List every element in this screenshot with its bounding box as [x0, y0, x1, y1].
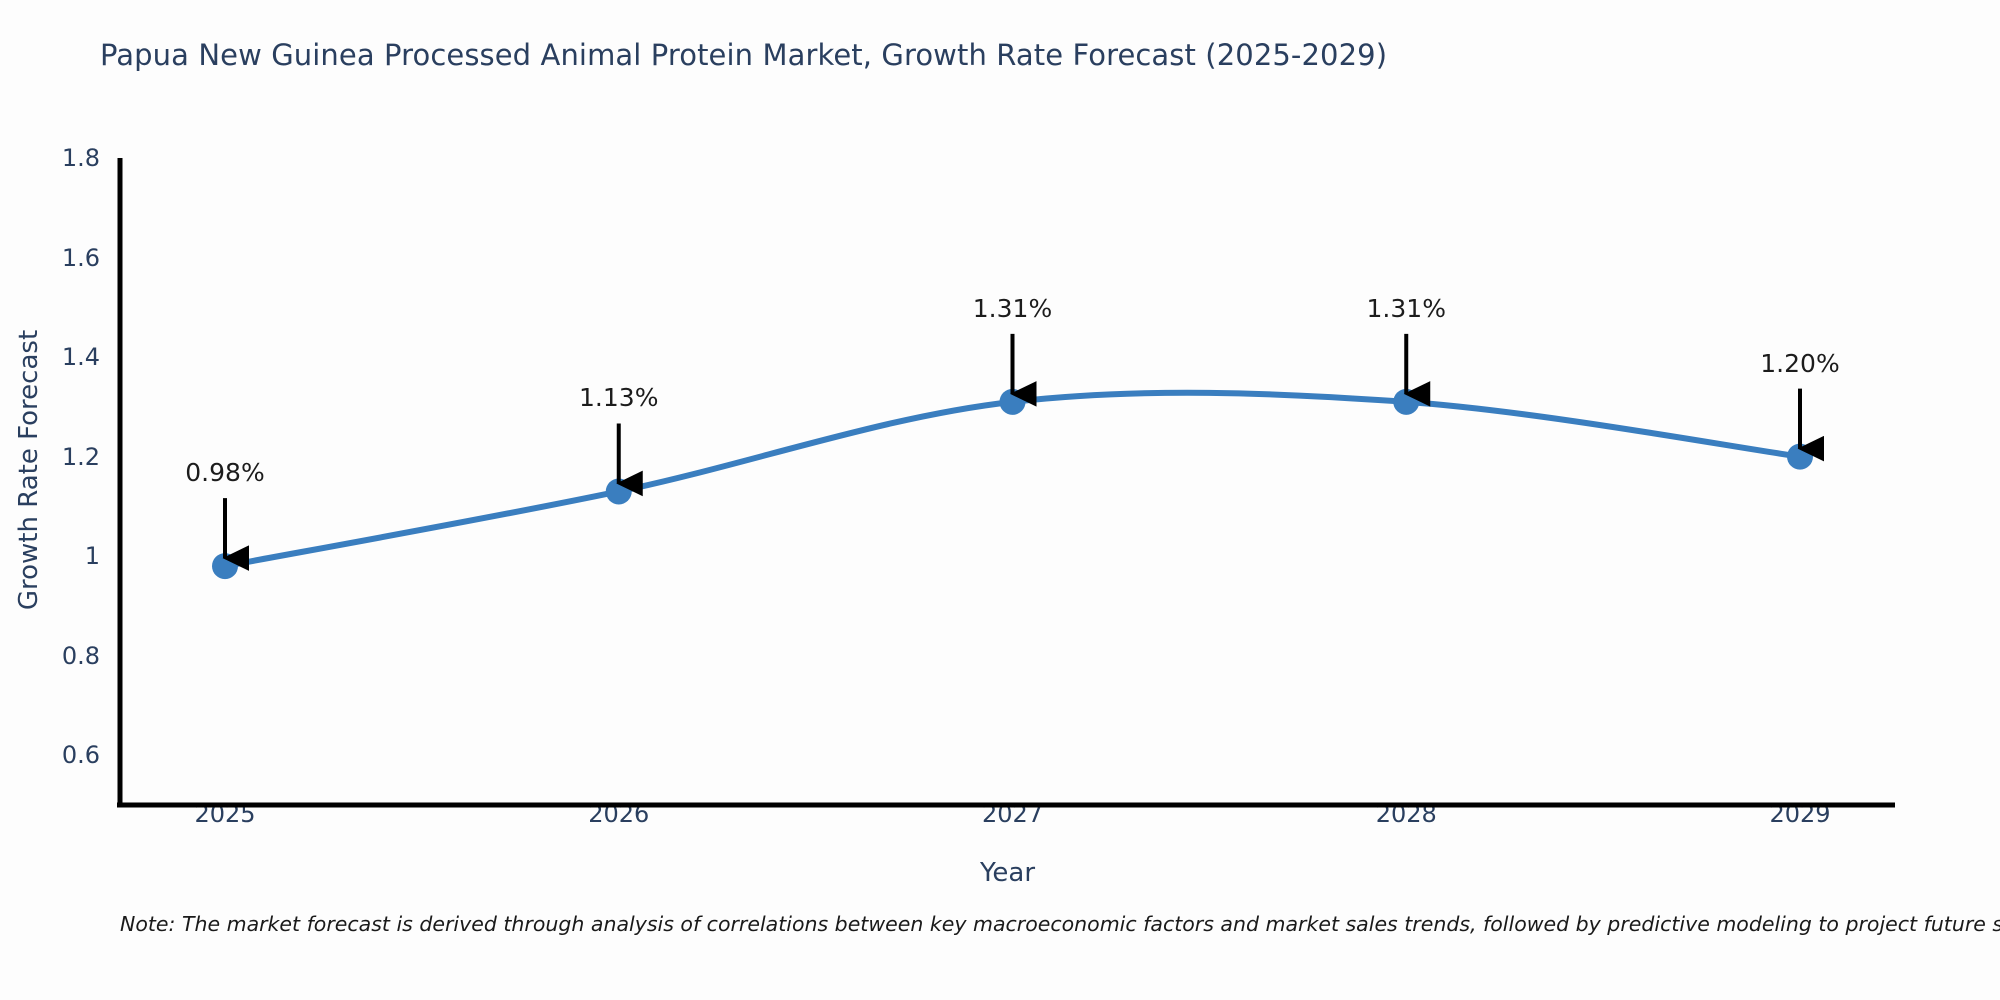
data-point-label: 1.20%	[1710, 349, 1890, 378]
data-point-label: 1.13%	[529, 383, 709, 412]
chart-container: Papua New Guinea Processed Animal Protei…	[0, 0, 2000, 1000]
series-line	[225, 393, 1800, 566]
data-point-label: 0.98%	[135, 458, 315, 487]
data-point-label: 1.31%	[1316, 294, 1496, 323]
plot-area	[0, 0, 2000, 1000]
x-axis-title: Year	[120, 858, 1895, 888]
chart-footnote: Note: The market forecast is derived thr…	[120, 912, 2000, 936]
data-point-label: 1.31%	[923, 294, 1103, 323]
data-point-markers	[212, 389, 1813, 579]
data-series-growth-rate	[225, 393, 1800, 566]
